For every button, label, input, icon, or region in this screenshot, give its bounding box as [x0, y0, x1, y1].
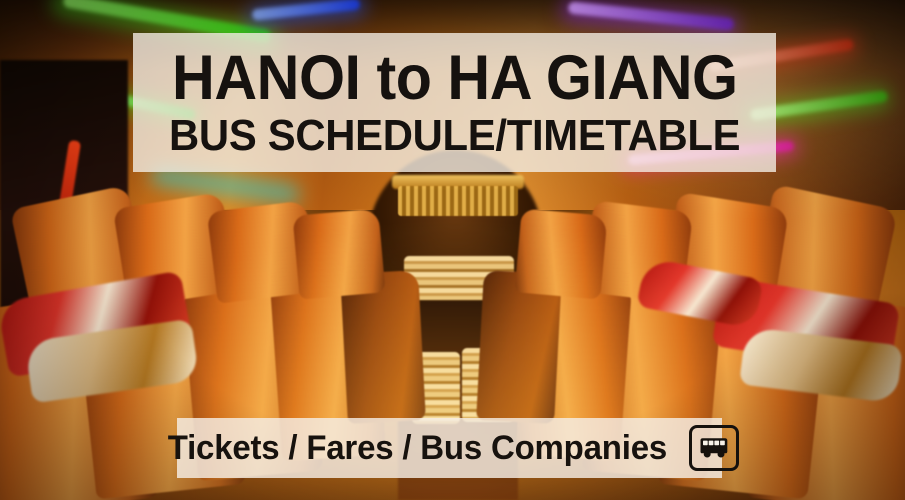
rear-curtain — [398, 186, 518, 216]
page-title: HANOI to HA GIANG — [172, 48, 738, 110]
page-subtitle: BUS SCHEDULE/TIMETABLE — [169, 113, 740, 159]
berth-left-upper-4 — [293, 208, 386, 299]
title-banner: HANOI to HA GIANG BUS SCHEDULE/TIMETABLE — [133, 33, 776, 172]
cta-label: Tickets / Fares / Bus Companies — [168, 429, 667, 468]
cta-banner[interactable]: Tickets / Fares / Bus Companies — [177, 418, 722, 478]
bus-icon — [689, 425, 739, 471]
berth-right-upper-4 — [515, 208, 608, 299]
poster: HANOI to HA GIANG BUS SCHEDULE/TIMETABLE… — [0, 0, 905, 500]
